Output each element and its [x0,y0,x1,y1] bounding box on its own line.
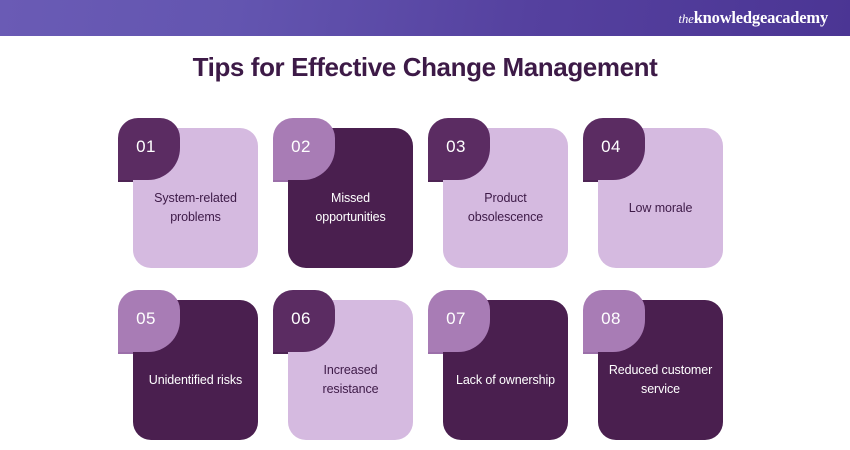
page-title: Tips for Effective Change Management [0,52,850,83]
tip-number-text: 04 [601,137,621,157]
tip-card-label: Missed opportunities [298,189,403,227]
logo-main-text: knowledgeacademy [694,8,828,27]
tip-card[interactable]: Increased resistance06 [273,290,413,440]
tip-number-text: 07 [446,309,466,329]
tip-card-label: System-related problems [143,189,248,227]
knowledge-academy-logo: theknowledgeacademy [678,8,828,28]
tip-card[interactable]: Reduced customer service08 [583,290,723,440]
tip-card[interactable]: Low morale04 [583,118,723,268]
tip-card-label: Lack of ownership [456,371,555,390]
tip-number-text: 08 [601,309,621,329]
tip-card[interactable]: Product obsolescence03 [428,118,568,268]
tip-card[interactable]: Lack of ownership07 [428,290,568,440]
tip-card[interactable]: Unidentified risks05 [118,290,258,440]
tip-number-text: 02 [291,137,311,157]
logo-the-text: the [678,11,693,26]
tip-card-label: Product obsolescence [453,189,558,227]
tip-number-text: 05 [136,309,156,329]
tip-number-text: 03 [446,137,466,157]
tip-number-text: 01 [136,137,156,157]
tip-card[interactable]: Missed opportunities02 [273,118,413,268]
tip-card-label: Increased resistance [298,361,403,399]
tip-card-label: Reduced customer service [608,361,713,399]
brand-header: theknowledgeacademy [0,0,850,36]
tip-number-text: 06 [291,309,311,329]
tip-card[interactable]: System-related problems01 [118,118,258,268]
tips-card-grid: System-related problems01Missed opportun… [118,118,738,440]
tip-card-label: Low morale [629,199,693,218]
tip-card-label: Unidentified risks [149,371,242,390]
